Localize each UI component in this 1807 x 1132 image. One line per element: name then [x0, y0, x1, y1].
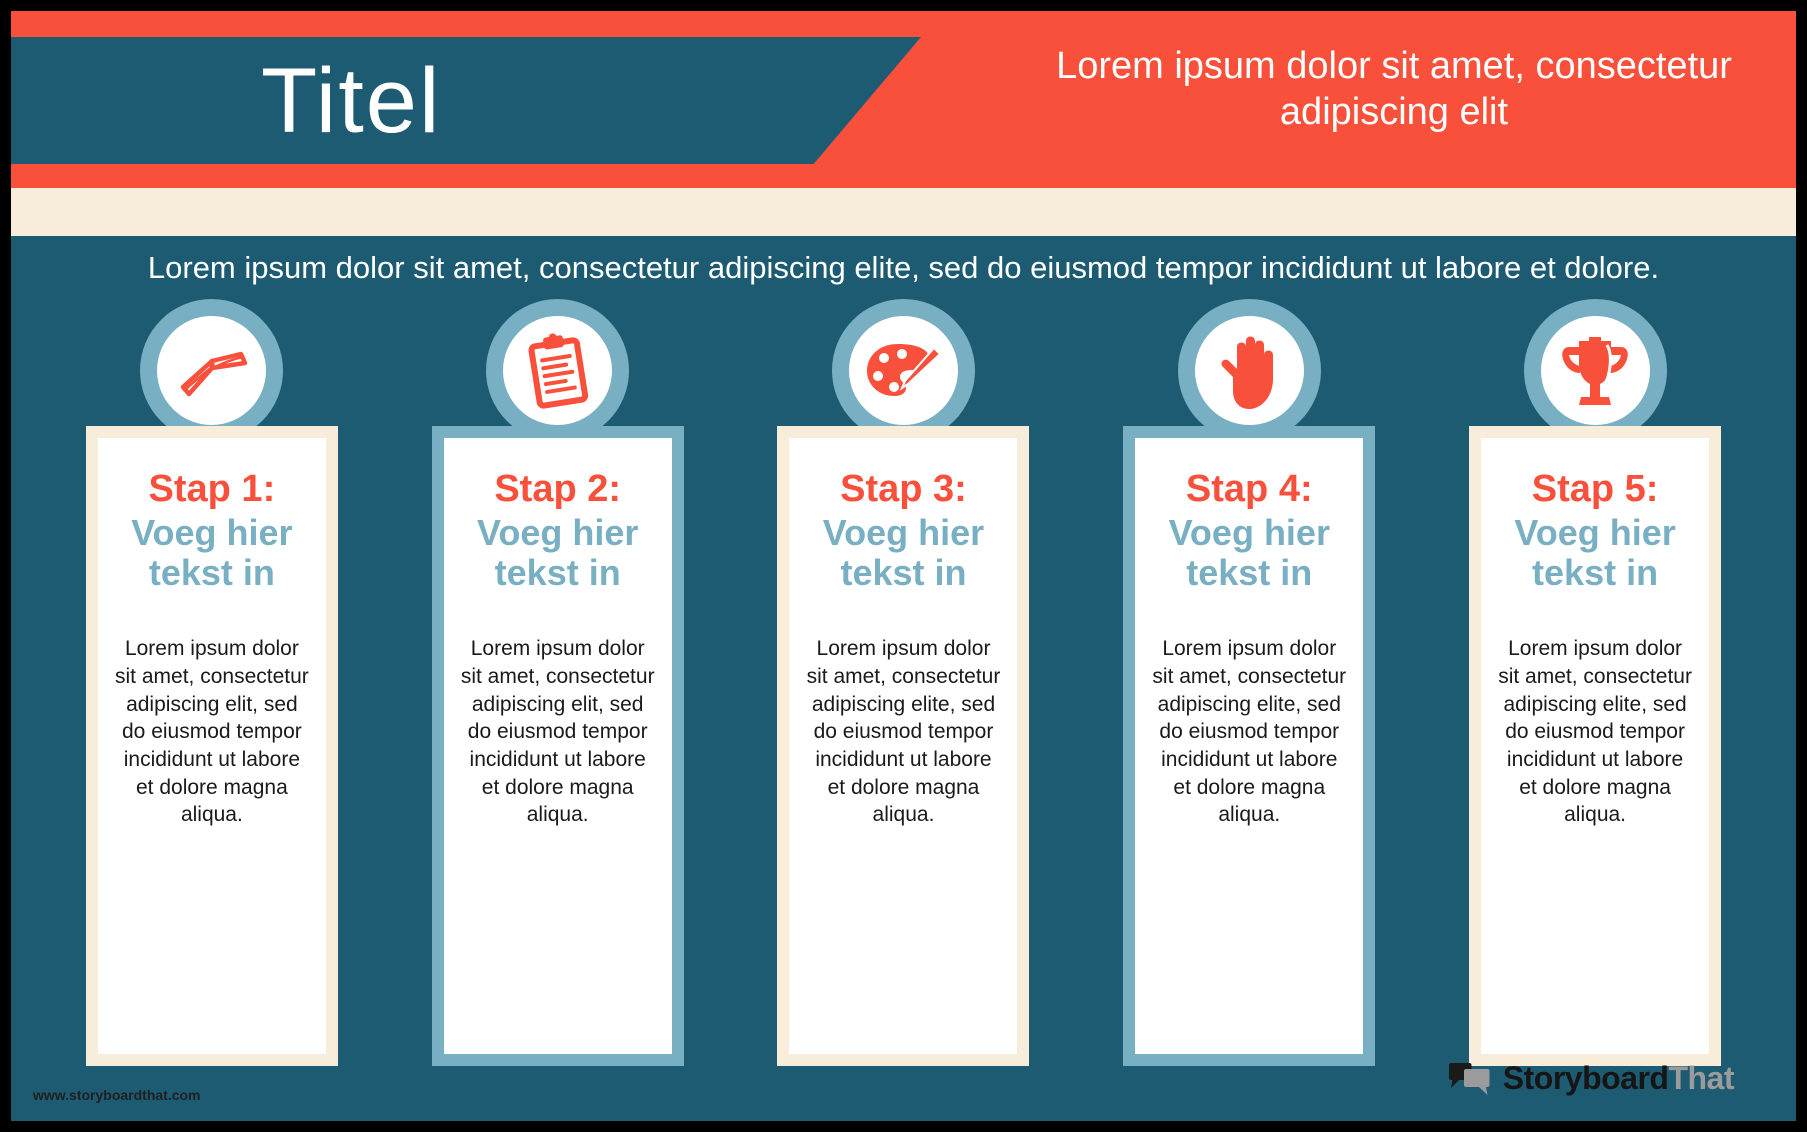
step-label-5: Stap 5: [1497, 468, 1693, 511]
infographic-poster: Titel Lorem ipsum dolor sit amet, consec… [11, 11, 1796, 1121]
open-hand-icon [1195, 316, 1304, 425]
step-label-4: Stap 4: [1151, 468, 1347, 511]
step-card-row: Stap 1: Voeg hier tekst in Lorem ipsum d… [11, 426, 1796, 1066]
step-subtitle-4[interactable]: Voeg hier tekst in [1151, 513, 1347, 594]
storyboardthat-logo[interactable]: StoryboardThat [1447, 1060, 1734, 1097]
icon-circle-4 [1178, 299, 1321, 442]
card-cell-3: Stap 3: Voeg hier tekst in Lorem ipsum d… [731, 426, 1077, 1066]
step-body-5[interactable]: Lorem ipsum dolor sit amet, consectetur … [1497, 635, 1693, 829]
step-body-3[interactable]: Lorem ipsum dolor sit amet, consectetur … [805, 635, 1001, 829]
icon-cell-1 [39, 299, 385, 442]
trophy-icon [1541, 316, 1650, 425]
step-label-3: Stap 3: [805, 468, 1001, 511]
step-body-4[interactable]: Lorem ipsum dolor sit amet, consectetur … [1151, 635, 1347, 829]
step-subtitle-5[interactable]: Voeg hier tekst in [1497, 513, 1693, 594]
step-subtitle-3[interactable]: Voeg hier tekst in [805, 513, 1001, 594]
icon-row [11, 299, 1796, 442]
step-label-1: Stap 1: [114, 468, 310, 511]
icon-cell-5 [1422, 299, 1768, 442]
paint-palette-icon [849, 316, 958, 425]
step-card-3[interactable]: Stap 3: Voeg hier tekst in Lorem ipsum d… [777, 426, 1029, 1066]
icon-circle-1 [140, 299, 283, 442]
step-body-2[interactable]: Lorem ipsum dolor sit amet, consectetur … [460, 635, 656, 829]
speech-bubbles-icon [1447, 1062, 1493, 1096]
card-cell-2: Stap 2: Voeg hier tekst in Lorem ipsum d… [385, 426, 731, 1066]
step-card-inner-5: Stap 5: Voeg hier tekst in Lorem ipsum d… [1481, 438, 1709, 1054]
step-card-inner-3: Stap 3: Voeg hier tekst in Lorem ipsum d… [789, 438, 1017, 1054]
logo-primary-text: Storyboard [1503, 1060, 1669, 1096]
step-card-2[interactable]: Stap 2: Voeg hier tekst in Lorem ipsum d… [432, 426, 684, 1066]
title-banner: Titel [11, 37, 921, 164]
page-title: Titel [261, 55, 441, 147]
description-text: Lorem ipsum dolor sit amet, consectetur … [11, 249, 1796, 288]
icon-cell-3 [731, 299, 1077, 442]
header-bar: Titel Lorem ipsum dolor sit amet, consec… [11, 11, 1796, 188]
step-card-inner-2: Stap 2: Voeg hier tekst in Lorem ipsum d… [444, 438, 672, 1054]
icon-circle-2 [486, 299, 629, 442]
icon-circle-3 [832, 299, 975, 442]
step-subtitle-2[interactable]: Voeg hier tekst in [460, 513, 656, 594]
icon-cell-4 [1076, 299, 1422, 442]
step-card-inner-4: Stap 4: Voeg hier tekst in Lorem ipsum d… [1135, 438, 1363, 1054]
logo-wordmark: StoryboardThat [1503, 1060, 1734, 1097]
header-subtitle: Lorem ipsum dolor sit amet, consectetur … [1034, 43, 1754, 136]
step-label-2: Stap 2: [460, 468, 656, 511]
step-card-5[interactable]: Stap 5: Voeg hier tekst in Lorem ipsum d… [1469, 426, 1721, 1066]
step-subtitle-1[interactable]: Voeg hier tekst in [114, 513, 310, 594]
cream-divider-strip [11, 188, 1796, 236]
open-book-icon [157, 316, 266, 425]
step-body-1[interactable]: Lorem ipsum dolor sit amet, consectetur … [114, 635, 310, 829]
footer-website-url[interactable]: www.storyboardthat.com [33, 1087, 201, 1103]
icon-circle-5 [1524, 299, 1667, 442]
card-cell-5: Stap 5: Voeg hier tekst in Lorem ipsum d… [1422, 426, 1768, 1066]
card-cell-4: Stap 4: Voeg hier tekst in Lorem ipsum d… [1076, 426, 1422, 1066]
step-card-inner-1: Stap 1: Voeg hier tekst in Lorem ipsum d… [98, 438, 326, 1054]
logo-secondary-text: That [1668, 1060, 1734, 1096]
clipboard-icon [503, 316, 612, 425]
icon-cell-2 [385, 299, 731, 442]
step-card-1[interactable]: Stap 1: Voeg hier tekst in Lorem ipsum d… [86, 426, 338, 1066]
step-card-4[interactable]: Stap 4: Voeg hier tekst in Lorem ipsum d… [1123, 426, 1375, 1066]
card-cell-1: Stap 1: Voeg hier tekst in Lorem ipsum d… [39, 426, 385, 1066]
